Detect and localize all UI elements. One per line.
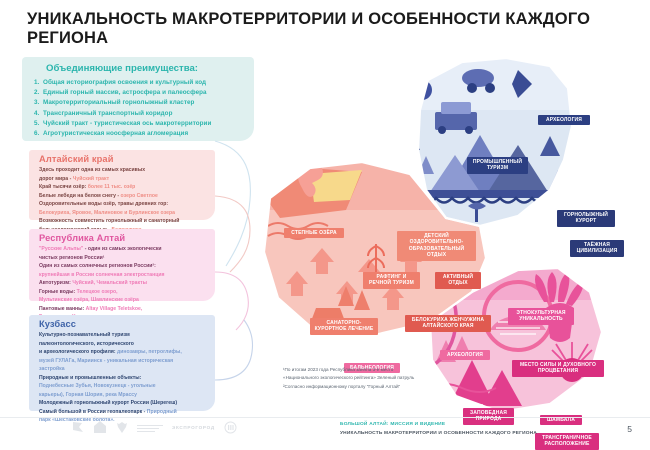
map-label-aktivnyy-otdyh[interactable]: АКТИВНЫЙ ОТДЫХ <box>435 272 481 289</box>
advantage-item-6: 6.Агротуристическая ноосферная агломерац… <box>32 129 248 139</box>
region-card-line: застройка <box>39 365 207 374</box>
advantage-item-1: 1.Общая историография освоения и культур… <box>32 78 248 88</box>
map-label-rafting-rechnoy-turizm[interactable]: РАФТИНГ И РЕЧНОЙ ТУРИЗМ <box>363 272 420 289</box>
region-card-line: Оздоровительные воды озёр, травы древних… <box>39 200 207 209</box>
map-label-transgranichnoe[interactable]: ТРАНСГРАНИЧНОЕ РАСПОЛОЖЕНИЕ <box>535 433 599 450</box>
map-label-tayozhnaya-civilizaciya[interactable]: ТАЁЖНАЯ ЦИВИЛИЗАЦИЯ <box>570 240 624 257</box>
region-card-kuzbass: Кузбасс Культурно-познавательный туризмп… <box>29 315 215 411</box>
region-card-respublika-altai: Республика Алтай "Русские Альпы" - один … <box>29 229 215 301</box>
region-card-line: и археологического профиля: динозавры, п… <box>39 348 207 357</box>
footnotes: ¹По итогам 2023 года Республика заняла 3… <box>283 366 513 391</box>
region-card-highlight: Белокуриха, Яровое, Малиновое и Бурлинск… <box>39 210 175 216</box>
footnote-2: «Национального экологического рейтинга» … <box>283 374 513 382</box>
footer-text: БОЛЬШОЙ АЛТАЙ: МИССИЯ И ВИДЕНИЕ УНИКАЛЬН… <box>340 422 537 436</box>
region-card-body: Культурно-познавательный туризмпалеонтол… <box>39 331 207 425</box>
region-card-line: карьеры), Горная Шория, река Мрассу <box>39 391 207 400</box>
region-card-line: Пантовые ванны: Altay Village Teletskoe, <box>39 305 207 314</box>
advantage-text: Макротерриториальный горнолыжный кластер <box>43 98 194 108</box>
region-card-line: Один из самых солнечных регионов России²… <box>39 262 207 271</box>
region-card-line: Край тысячи озёр: более 11 тыс. озёр <box>39 183 207 192</box>
region-card-highlight: "Русские Альпы" <box>39 246 83 252</box>
region-card-title: Алтайский край <box>39 154 215 164</box>
region-card-body: Здесь проходит одна из самых красивыхдор… <box>39 166 207 234</box>
region-card-line: Самый большой в России геопалеопарк - Пр… <box>39 408 207 417</box>
region-card-line: Мультинские озёра, Шавлинские озёра <box>39 296 207 305</box>
region-card-line: дорог мира - Чуйский тракт <box>39 175 207 184</box>
flag-logo-icon <box>72 421 84 434</box>
region-card-line: крупнейшая в России солнечная электроста… <box>39 271 207 280</box>
region-card-highlight: динозавры, петроглифы, <box>117 349 182 355</box>
region-card-highlight: более 11 тыс. озёр <box>88 184 136 190</box>
footer-subtitle: УНИКАЛЬНОСТЬ МАКРОТЕРРИТОРИИ И ОСОБЕННОС… <box>340 431 537 436</box>
advantage-number: 5. <box>32 119 43 129</box>
double-eagle-logo-icon <box>116 421 128 434</box>
region-card-highlight: Поднебесные Зубья, Новокузнецк - угольны… <box>39 383 156 389</box>
footnote-1: ¹По итогам 2023 года Республика заняла 3… <box>283 366 513 374</box>
advantage-text: Общая историография освоения и культурны… <box>43 78 206 88</box>
region-card-line: Горные воды: Телецкое озеро, <box>39 288 207 297</box>
region-card-line: "Русские Альпы" - один из самых экологич… <box>39 245 207 254</box>
footer-logos: ЭКСПРОГОРОД <box>72 421 237 434</box>
region-card-line: Культурно-познавательный туризм <box>39 331 207 340</box>
map-label-sanatorno-kurortnoe[interactable]: САНАТОРНО- КУРОРТНОЕ ЛЕЧЕНИЕ <box>310 318 378 335</box>
ministry-wordmark-icon <box>137 424 163 432</box>
ministry-building-logo-icon <box>93 421 107 434</box>
map-label-stepnye-ozyora[interactable]: СТЕПНЫЕ ОЗЁРА <box>284 228 344 238</box>
map-label-arheologiya-mid[interactable]: АРХЕОЛОГИЯ <box>440 350 490 360</box>
advantage-number: 1. <box>32 78 43 88</box>
region-card-highlight: застройка <box>39 366 65 372</box>
advantage-number: 6. <box>32 129 43 139</box>
region-card-line: Белокуриха, Яровое, Малиновое и Бурлинск… <box>39 209 207 218</box>
map-label-etnokulturnaya[interactable]: ЭТНОКУЛЬТУРНАЯ УНИКАЛЬНОСТЬ <box>508 308 574 325</box>
region-card-body: "Русские Альпы" - один из самых экологич… <box>39 245 207 322</box>
footnote-3: ²Согласно информационному порталу "Горны… <box>283 383 513 391</box>
region-card-highlight: Телецкое озеро, <box>77 289 118 295</box>
advantage-item-3: 3.Макротерриториальный горнолыжный класт… <box>32 98 248 108</box>
region-card-line: Автотуризм: Чуйский, Чемальский тракты <box>39 279 207 288</box>
region-card-line: Белые лебеди на белом снегу - озеро Свет… <box>39 192 207 201</box>
region-card-line: музей ГУЛАГа, Мариинск - уникальная исто… <box>39 357 207 366</box>
map-label-detskiy-otdyh[interactable]: ДЕТСКИЙ ОЗДОРОВИТЕЛЬНО- ОБРАЗОВАТЕЛЬНЫЙ … <box>397 231 476 261</box>
advantage-text: Единый горный массив, астросфера и палео… <box>43 88 207 98</box>
region-card-line: чистых регионов России¹ <box>39 254 207 263</box>
map-label-belokuriha[interactable]: БЕЛОКУРИХА ЖЕНЧУЖИНА АЛТАЙСКОГО КРАЯ <box>405 315 491 332</box>
region-card-line: Поднебесные Зубья, Новокузнецк - угольны… <box>39 382 207 391</box>
advantages-box: Объединяющие преимущества: 1.Общая истор… <box>22 57 254 141</box>
region-card-title: Республика Алтай <box>39 233 215 243</box>
region-card-line: Возможность совместить горнолыжный и сан… <box>39 217 207 226</box>
advantages-list: 1.Общая историография освоения и культур… <box>32 78 248 139</box>
region-card-altai-krai: Алтайский край Здесь проходит одна из са… <box>29 150 215 220</box>
region-card-highlight: крупнейшая в России солнечная электроста… <box>39 272 165 278</box>
advantage-item-4: 4.Трансграничный транспортный коридор <box>32 109 248 119</box>
footer-logo-text: ЭКСПРОГОРОД <box>172 425 215 430</box>
page-number: 5 <box>627 424 632 434</box>
region-card-title: Кузбасс <box>39 319 215 329</box>
region-card-line: Природные и промышленные объекты: <box>39 374 207 383</box>
advantage-item-5: 5.Чуйский тракт - туристическая ось макр… <box>32 119 248 129</box>
footer-brand: БОЛЬШОЙ АЛТАЙ: МИССИЯ И ВИДЕНИЕ <box>340 422 537 427</box>
advantage-text: Трансграничный транспортный коридор <box>43 109 172 119</box>
advantage-text: Агротуристическая ноосферная агломерация <box>43 129 188 139</box>
map-label-gornolyzhnyy-kurort[interactable]: ГОРНОЛЫЖНЫЙ КУРОРТ <box>557 210 615 227</box>
region-card-line: палеонтологического, исторического <box>39 340 207 349</box>
advantages-heading: Объединяющие преимущества: <box>46 63 198 74</box>
region-card-highlight: карьеры), Горная Шория, река Мрассу <box>39 392 137 398</box>
region-card-line: Здесь проходит одна из самых красивых <box>39 166 207 175</box>
advantage-text: Чуйский тракт - туристическая ось макрот… <box>43 119 211 129</box>
map-label-arheologiya-top[interactable]: АРХЕОЛОГИЯ <box>538 115 590 125</box>
region-card-highlight: Чуйский, Чемальский тракты <box>72 280 147 286</box>
map-label-mesto-sily[interactable]: МЕСТО СИЛЫ И ДУХОВНОГО ПРОЦВЕТАНИЯ <box>512 360 604 377</box>
region-card-highlight: озеро Светлое <box>121 193 158 199</box>
circle-logo-icon <box>224 421 237 434</box>
region-card-highlight: Мультинские озёра, Шавлинские озёра <box>39 297 139 303</box>
advantage-number: 3. <box>32 98 43 108</box>
region-map: АРХЕОЛОГИЯПРОМЫШЛЕННЫЙ ТУРИЗМГОРНОЛЫЖНЫЙ… <box>250 40 650 420</box>
map-label-promyshlennyy-turizm[interactable]: ПРОМЫШЛЕННЫЙ ТУРИЗМ <box>467 157 528 174</box>
footer-divider <box>0 417 650 418</box>
advantage-item-2: 2.Единый горный массив, астросфера и пал… <box>32 88 248 98</box>
region-card-highlight: Altay Village Teletskoe, <box>86 306 143 312</box>
region-card-highlight: музей ГУЛАГа, Мариинск - уникальная исто… <box>39 358 173 364</box>
region-card-line: Молодежный горнолыжный курорт России (Ше… <box>39 399 207 408</box>
advantage-number: 4. <box>32 109 43 119</box>
region-card-highlight: Природный <box>147 409 177 415</box>
advantage-number: 2. <box>32 88 43 98</box>
region-card-highlight: Чуйский тракт <box>73 176 109 182</box>
